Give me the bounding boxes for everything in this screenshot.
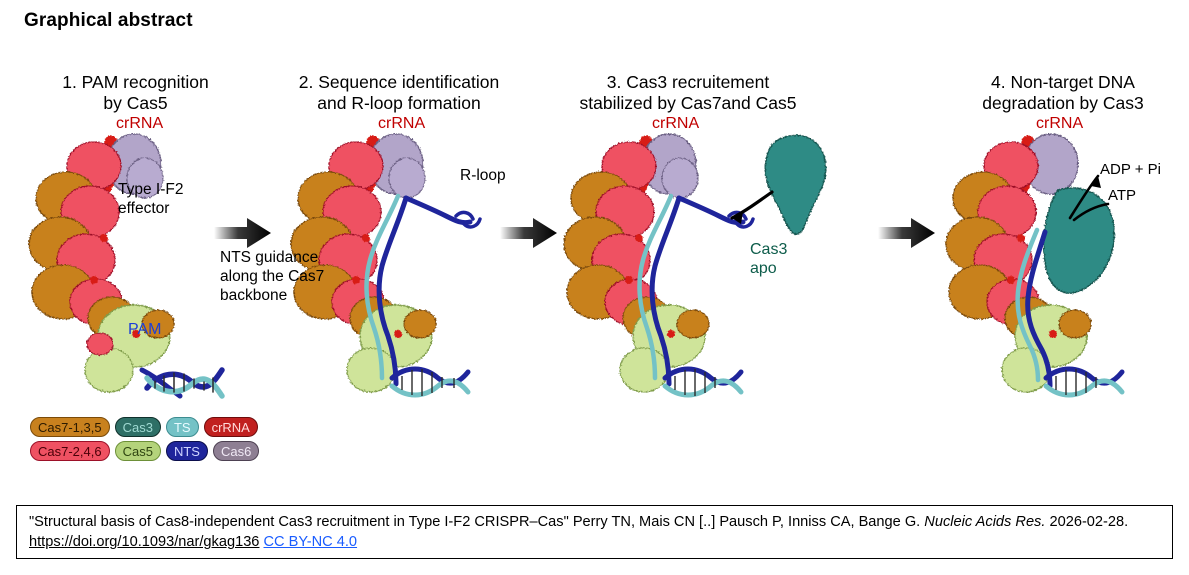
legend-pill-ts: TS: [166, 417, 199, 437]
panel-3-label-crrna: crRNA: [652, 114, 699, 133]
panel-4-label-crrna: crRNA: [1036, 114, 1083, 133]
cas3-apo-molecule: [765, 135, 826, 234]
panel-3-title: 3. Cas3 recruitement stabilized by Cas7a…: [538, 72, 838, 114]
citation-title: "Structural basis of Cas8-independent Ca…: [29, 514, 569, 530]
r-loop-flap: [406, 198, 470, 223]
citation-doi-link[interactable]: https://doi.org/10.1093/nar/gkag136: [29, 534, 259, 550]
panel-2-label-crrna: crRNA: [378, 114, 425, 133]
step-arrow-3-to-4: [878, 216, 936, 250]
panel-1-title: 1. PAM recognition by Cas5: [8, 72, 263, 114]
citation-box: "Structural basis of Cas8-independent Ca…: [16, 505, 1173, 559]
citation-license-link[interactable]: CC BY-NC 4.0: [264, 534, 358, 550]
panel-1-label-effector: Type I-F2 effector: [118, 180, 183, 218]
panel-2-figure: crRNA R-loop NTS guidance along the Cas7…: [270, 120, 525, 402]
legend-pill-cas7-odd: Cas7-1,3,5: [30, 417, 110, 437]
panel-2-title: 2. Sequence identification and R-loop fo…: [264, 72, 534, 114]
step-arrow-2-to-3: [500, 216, 558, 250]
panel-4-label-atp: ATP: [1108, 186, 1136, 205]
duplex-dna-bottom: [1046, 369, 1122, 396]
citation-text: "Structural basis of Cas8-independent Ca…: [29, 512, 1162, 552]
citation-date: 2026-02-28.: [1049, 514, 1128, 530]
citation-journal: Nucleic Acids Res.: [924, 514, 1045, 530]
panel-4-label-adp-pi: ADP + Pi: [1100, 160, 1161, 179]
legend-pill-cas3: Cas3: [115, 417, 161, 437]
duplex-dna-bottom: [392, 369, 468, 396]
citation-authors: Perry TN, Mais CN [..] Pausch P, Inniss …: [573, 514, 920, 530]
panel-4-figure: crRNA ADP + Pi ATP: [940, 120, 1189, 402]
legend-pill-crrna: crRNA: [204, 417, 258, 437]
legend-pill-cas6: Cas6: [213, 441, 259, 461]
panel-3-figure: crRNA Cas3 apo: [560, 120, 815, 402]
duplex-dna-bottom: [665, 369, 741, 396]
panel-1-label-pam: PAM: [128, 320, 161, 339]
page-title: Graphical abstract: [24, 10, 193, 32]
panel-1-label-crrna: crRNA: [116, 114, 163, 133]
graphical-abstract-page: Graphical abstract 1. PAM recognition by…: [0, 0, 1189, 575]
panel-step-4: 4. Non-target DNA degradation by Cas3: [940, 72, 1189, 402]
legend-pill-nts: NTS: [166, 441, 208, 461]
panel-4-title: 4. Non-target DNA degradation by Cas3: [938, 72, 1188, 114]
legend-row-2: Cas7-2,4,6 Cas5 NTS Cas6: [30, 441, 259, 461]
panel-2-label-nts-guidance: NTS guidance along the Cas7 backbone: [220, 248, 324, 305]
legend-pill-cas5: Cas5: [115, 441, 161, 461]
step-arrow-1-to-2: [214, 216, 272, 250]
panel-2-label-rloop: R-loop: [460, 166, 506, 185]
cascade-cas3-recruitment-structure-3: [560, 120, 860, 402]
panel-step-2: 2. Sequence identification and R-loop fo…: [270, 72, 525, 402]
legend-pill-cas7-even: Cas7-2,4,6: [30, 441, 110, 461]
legend-row-1: Cas7-1,3,5 Cas3 TS crRNA: [30, 417, 259, 437]
panel-step-3: 3. Cas3 recruitement stabilized by Cas7a…: [560, 72, 815, 402]
pam-dna-duplex: [142, 370, 222, 396]
color-legend: Cas7-1,3,5 Cas3 TS crRNA Cas7-2,4,6 Cas5…: [30, 417, 259, 461]
panel-3-label-cas3-apo: Cas3 apo: [750, 240, 815, 278]
